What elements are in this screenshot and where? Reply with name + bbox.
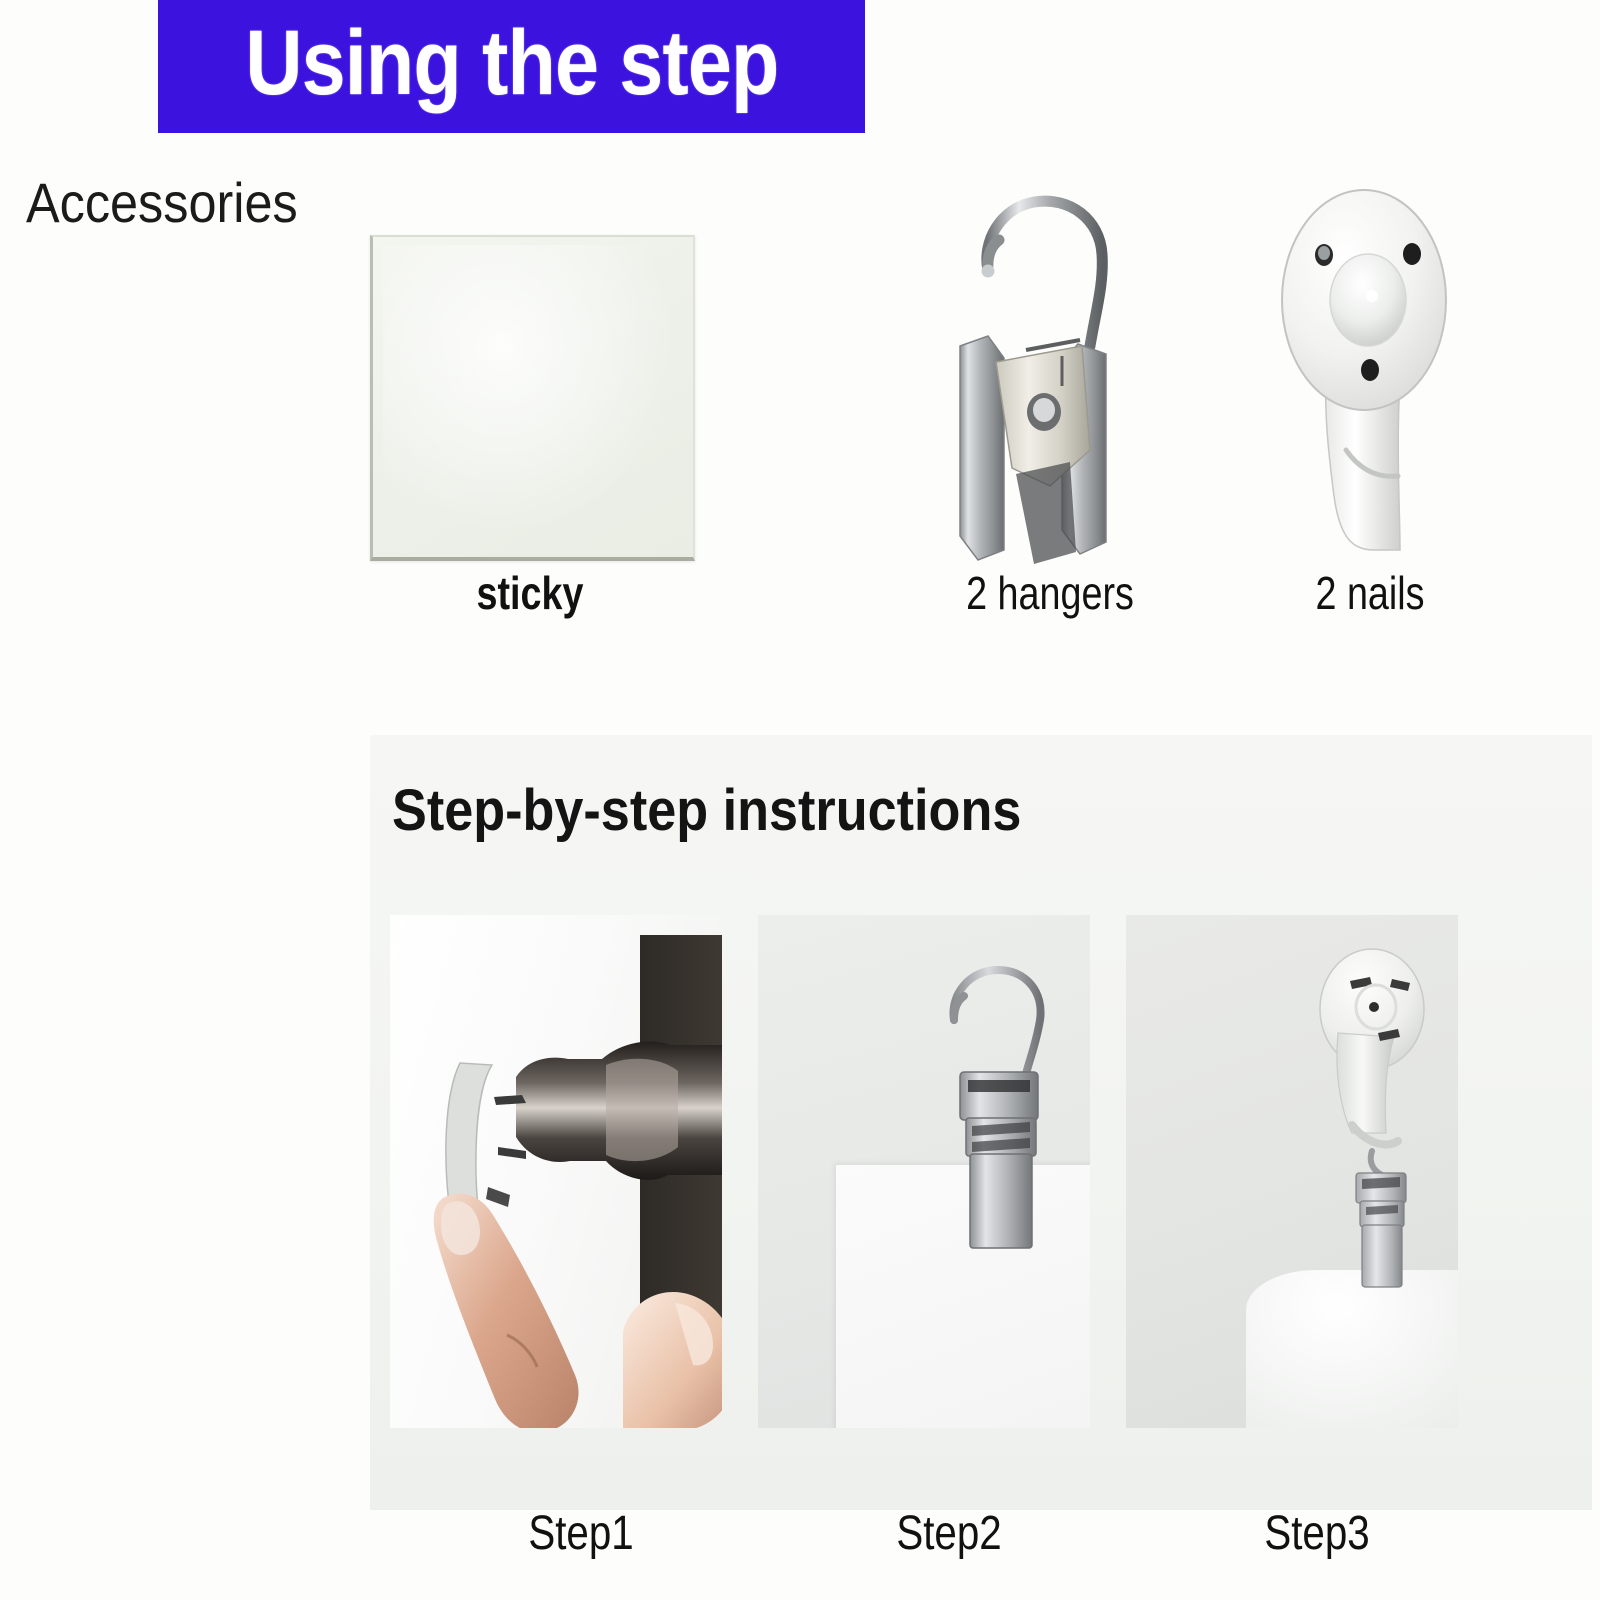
accessory-item-sticky: sticky — [340, 150, 720, 616]
step-caption-2: Step2 — [810, 1510, 1089, 1558]
step-caption-3: Step3 — [1178, 1510, 1457, 1558]
steps-photo-row — [390, 915, 1572, 1430]
sticky-pad-icon — [370, 235, 695, 561]
step-cell-1 — [390, 915, 722, 1428]
accessory-caption-sticky: sticky — [374, 570, 686, 616]
nail-hook-art — [1180, 150, 1560, 570]
hanger-clip-icon — [926, 950, 1076, 1280]
accessory-caption-nails: 2 nails — [1214, 570, 1526, 616]
title-banner: Using the step — [158, 0, 865, 133]
steps-panel: Step-by-step instructions — [370, 735, 1592, 1510]
nail-wall-hook-icon — [1250, 150, 1490, 570]
finger-icon — [415, 1185, 595, 1428]
page-title: Using the step — [245, 17, 778, 117]
accessory-item-nails: 2 nails — [1180, 150, 1560, 616]
accessories-row: sticky — [0, 150, 1600, 670]
sticky-pad-art — [340, 150, 720, 570]
step-photo-1 — [390, 915, 722, 1428]
step-caption-1: Step1 — [442, 1510, 721, 1558]
step-cell-3 — [1126, 915, 1458, 1428]
step-photo-2 — [758, 915, 1090, 1428]
thumb-icon — [605, 1255, 722, 1428]
mounted-wall-hook-icon — [1294, 937, 1454, 1337]
step-captions-row: Step1 Step2 Step3 — [370, 1510, 1592, 1600]
hanger-clip-icon — [930, 150, 1170, 570]
steps-heading: Step-by-step instructions — [392, 777, 1021, 844]
accessory-caption-hangers: 2 hangers — [894, 570, 1206, 616]
step-cell-2 — [758, 915, 1090, 1428]
step-photo-3 — [1126, 915, 1458, 1428]
